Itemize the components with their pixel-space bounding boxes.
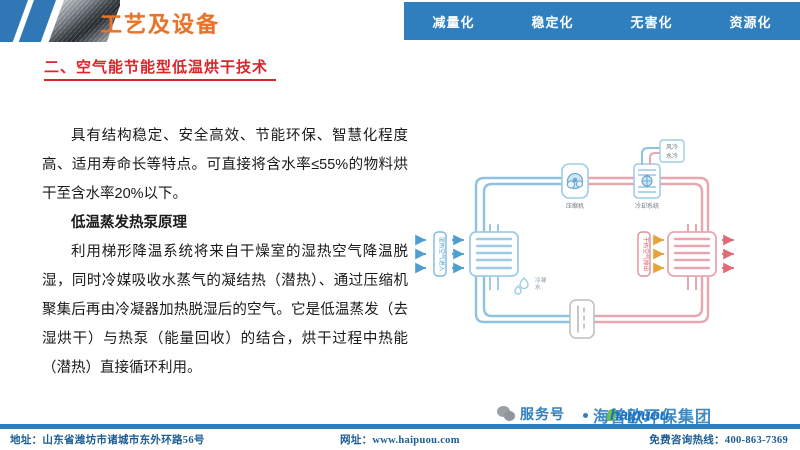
svg-text:水冷: 水冷: [666, 152, 678, 160]
banner-item-1: 稳定化: [531, 12, 573, 31]
body-text-column: 具有结构稳定、安全高效、节能环保、智慧化程度高、适用寿命长等特点。可直接将含水率…: [42, 122, 408, 383]
banner-item-2: 无害化: [630, 12, 672, 31]
svg-text:水: 水: [535, 283, 541, 291]
section-underline: [44, 79, 276, 81]
svg-text:冷凝: 冷凝: [535, 276, 547, 284]
heat-pump-diagram: 压缩机 冷却系统 风冷 水冷: [412, 132, 798, 340]
svg-text:干热空气排出: 干热空气排出: [642, 237, 650, 272]
footer-website: 网址：www.haipuou.com: [340, 432, 460, 447]
svg-text:风冷: 风冷: [666, 143, 678, 151]
footer-hotline: 免费咨询热线：400-863-7369: [649, 432, 788, 447]
slide-header: 工艺及设备 减量化 稳定化 无害化 资源化: [0, 0, 800, 42]
service-account-label: 服务号: [520, 404, 565, 424]
section-heading: 二、空气能节能型低温烘干技术: [44, 56, 268, 77]
banner-item-3: 资源化: [729, 12, 771, 31]
header-banner: 减量化 稳定化 无害化 资源化: [404, 2, 800, 40]
subheading-principle: 低温蒸发热泵原理: [42, 209, 408, 238]
svg-text:湿热空气进入: 湿热空气进入: [438, 237, 446, 272]
banner-item-0: 减量化: [432, 12, 474, 31]
brand-separator-dot: [583, 413, 588, 418]
footer-rule: [0, 424, 800, 429]
svg-text:冷却系统: 冷却系统: [635, 202, 659, 210]
svg-text:压缩机: 压缩机: [566, 202, 584, 210]
page-title: 工艺及设备: [100, 7, 220, 39]
wechat-icon: [497, 406, 516, 422]
footer-address: 地址：山东省潍坊市诸城市东外环路56号: [10, 432, 205, 447]
paragraph-features: 具有结构稳定、安全高效、节能环保、智慧化程度高、适用寿命长等特点。可直接将含水率…: [42, 122, 408, 209]
company-logo-text: haipuou: [610, 407, 669, 425]
paragraph-principle: 利用梯形降温系统将来自干燥室的湿热空气降温脱湿，同时冷媒吸收水蒸气的凝结热（潜热…: [42, 238, 408, 383]
